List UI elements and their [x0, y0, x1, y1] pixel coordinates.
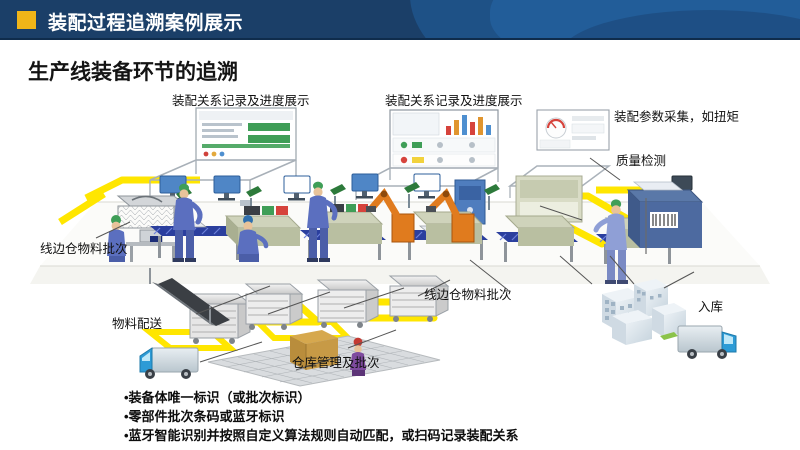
callout-line-side-stock-right: 线边仓物料批次	[424, 284, 512, 303]
delivery-truck-icon-right	[678, 326, 736, 359]
bullet-item-1: •装备体唯一标识（或批次标识）	[124, 388, 519, 407]
slide-header: 装配过程追溯案例展示	[0, 0, 800, 40]
callout-torque-capture: 装配参数采集，如扭矩	[614, 106, 739, 125]
bullet-item-3: •蓝牙智能识别并按照自定义算法规则自动匹配，或扫码记录装配关系	[124, 426, 519, 445]
callout-line-side-stock-left: 线边仓物料批次	[40, 238, 128, 257]
callout-quality-inspection: 质量检测	[616, 150, 666, 169]
header-title: 装配过程追溯案例展示	[48, 8, 243, 35]
slide-root: 装配过程追溯案例展示 生产线装备环节的追溯	[0, 0, 800, 450]
warehouse-rack-icon	[602, 279, 686, 345]
bullet-item-2: •零部件批次条码或蓝牙标识	[124, 407, 519, 426]
bullet-list: •装备体唯一标识（或批次标识） •零部件批次条码或蓝牙标识 •蓝牙智能识别并按照…	[124, 388, 519, 445]
callout-material-delivery: 物料配送	[112, 313, 162, 332]
callout-warehouse-batch: 仓库管理及批次	[292, 352, 380, 371]
yellow-square-icon	[17, 11, 36, 29]
header-underline	[0, 38, 800, 40]
delivery-truck-icon-left	[140, 348, 198, 379]
callout-inbound: 入库	[698, 296, 723, 315]
callout-assembly-record-right: 装配关系记录及进度展示	[385, 90, 523, 109]
callout-assembly-record-left: 装配关系记录及进度展示	[172, 90, 310, 109]
barcode-box-icon	[628, 182, 702, 248]
